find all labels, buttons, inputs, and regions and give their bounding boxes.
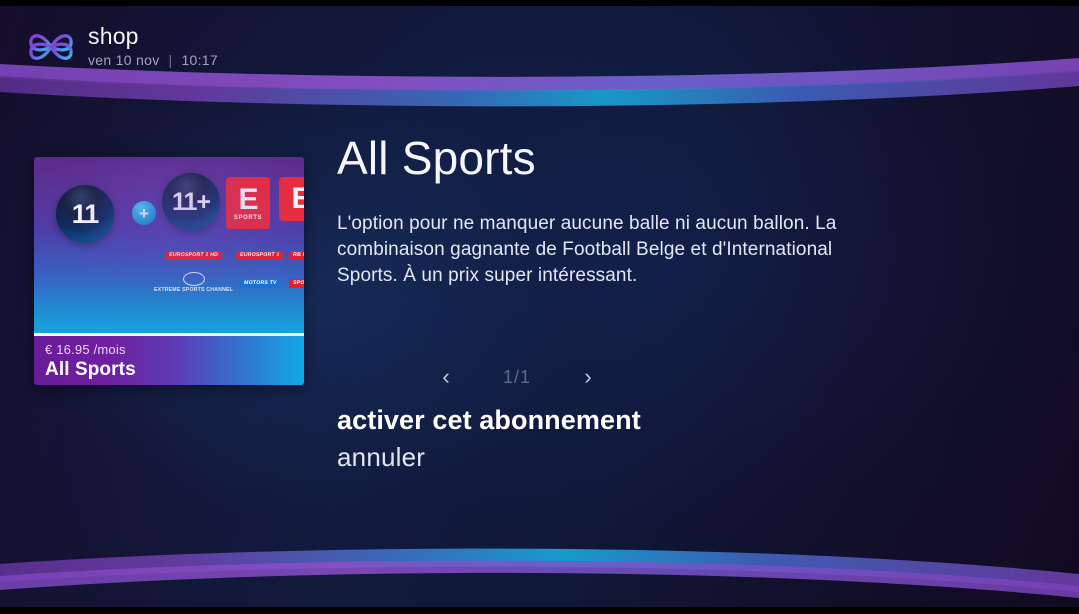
plus-badge-icon: +	[132, 201, 156, 225]
chevron-right-icon[interactable]: ›	[578, 366, 598, 388]
header-date: ven 10 nov	[88, 52, 160, 69]
channel-logo: EUROSPORT 1 HD	[164, 251, 222, 260]
main-content: 11 + 11+ E SPORTS E	[0, 100, 1079, 560]
header-time: 10:17	[181, 52, 218, 69]
channel-logo: EUROSPORT 1	[235, 251, 284, 260]
proximus-butterfly-logo-icon	[28, 26, 74, 68]
detail-description: L'option pour ne manquer aucune balle ni…	[337, 211, 897, 289]
channel-logo-label: EXTREME SPORTS CHANNEL	[154, 287, 233, 293]
channel-logo: EXTREME SPORTS CHANNEL	[154, 272, 233, 294]
card-price-band: € 16.95 /mois All Sports	[34, 336, 304, 385]
channel-logo: MOTORS TV	[239, 279, 281, 288]
letterbox-bottom	[0, 607, 1079, 614]
channel-11plus-sphere-icon: 11+	[162, 173, 220, 231]
detail-title: All Sports	[337, 130, 1027, 186]
product-card[interactable]: 11 + 11+ E SPORTS E	[34, 157, 304, 385]
channel-logo-grid: EUROSPORT 1 HD EUROSPORT 1 RB MOTEURS EX…	[154, 251, 304, 294]
eleven-sports-glyph: E	[238, 186, 257, 214]
letterbox-top	[0, 0, 1079, 6]
eleven-sports-logo-icon: E SPORTS	[226, 177, 270, 229]
plus-label: +	[139, 205, 149, 222]
tv-shop-screen: shop ven 10 nov | 10:17	[0, 0, 1079, 614]
product-card-artwork: 11 + 11+ E SPORTS E	[34, 157, 304, 333]
cancel-button[interactable]: annuler	[337, 440, 641, 475]
channel-11-label: 11	[72, 199, 99, 230]
page-indicator: 1/1	[496, 367, 538, 388]
eleven-logo-icon: E	[279, 177, 304, 221]
app-header: shop ven 10 nov | 10:17	[0, 6, 1079, 68]
action-list: activer cet abonnement annuler	[337, 402, 641, 475]
card-price: € 16.95 /mois	[45, 342, 294, 357]
detail-panel: All Sports L'option pour ne manquer aucu…	[337, 130, 1027, 289]
activate-subscription-button[interactable]: activer cet abonnement	[337, 402, 641, 438]
channel-badges-row: 11 + 11+ E SPORTS E	[34, 169, 304, 241]
header-datetime: ven 10 nov | 10:17	[88, 52, 218, 69]
page-title: shop	[88, 24, 218, 49]
extreme-sports-mark-icon	[183, 272, 205, 286]
card-title: All Sports	[45, 358, 294, 381]
chevron-left-icon[interactable]: ‹	[436, 366, 456, 388]
channel-logo: SPORT 10 HD	[289, 279, 304, 288]
eleven-sports-sublabel: SPORTS	[234, 215, 262, 221]
eleven-glyph: E	[291, 185, 304, 213]
channel-11plus-label: 11+	[172, 188, 210, 217]
pagination: ‹ 1/1 ›	[337, 362, 697, 392]
header-separator: |	[169, 52, 173, 69]
channel-11-sphere-icon: 11	[56, 185, 114, 243]
channel-logo: RB MOTEURS	[288, 251, 304, 260]
